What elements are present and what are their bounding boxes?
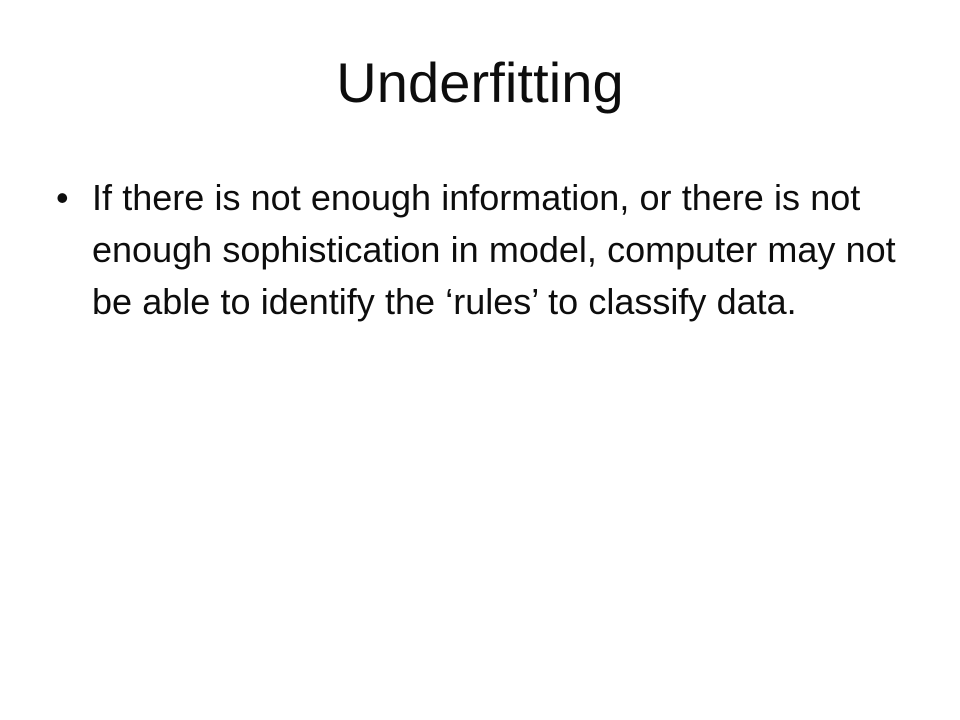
bullet-icon: • bbox=[56, 172, 92, 224]
bullet-text: If there is not enough information, or t… bbox=[92, 172, 904, 328]
page-title: Underfitting bbox=[0, 50, 960, 116]
slide-canvas: Underfitting • If there is not enough in… bbox=[0, 0, 960, 720]
list-item: • If there is not enough information, or… bbox=[56, 172, 916, 328]
slide-body: • If there is not enough information, or… bbox=[56, 172, 916, 328]
